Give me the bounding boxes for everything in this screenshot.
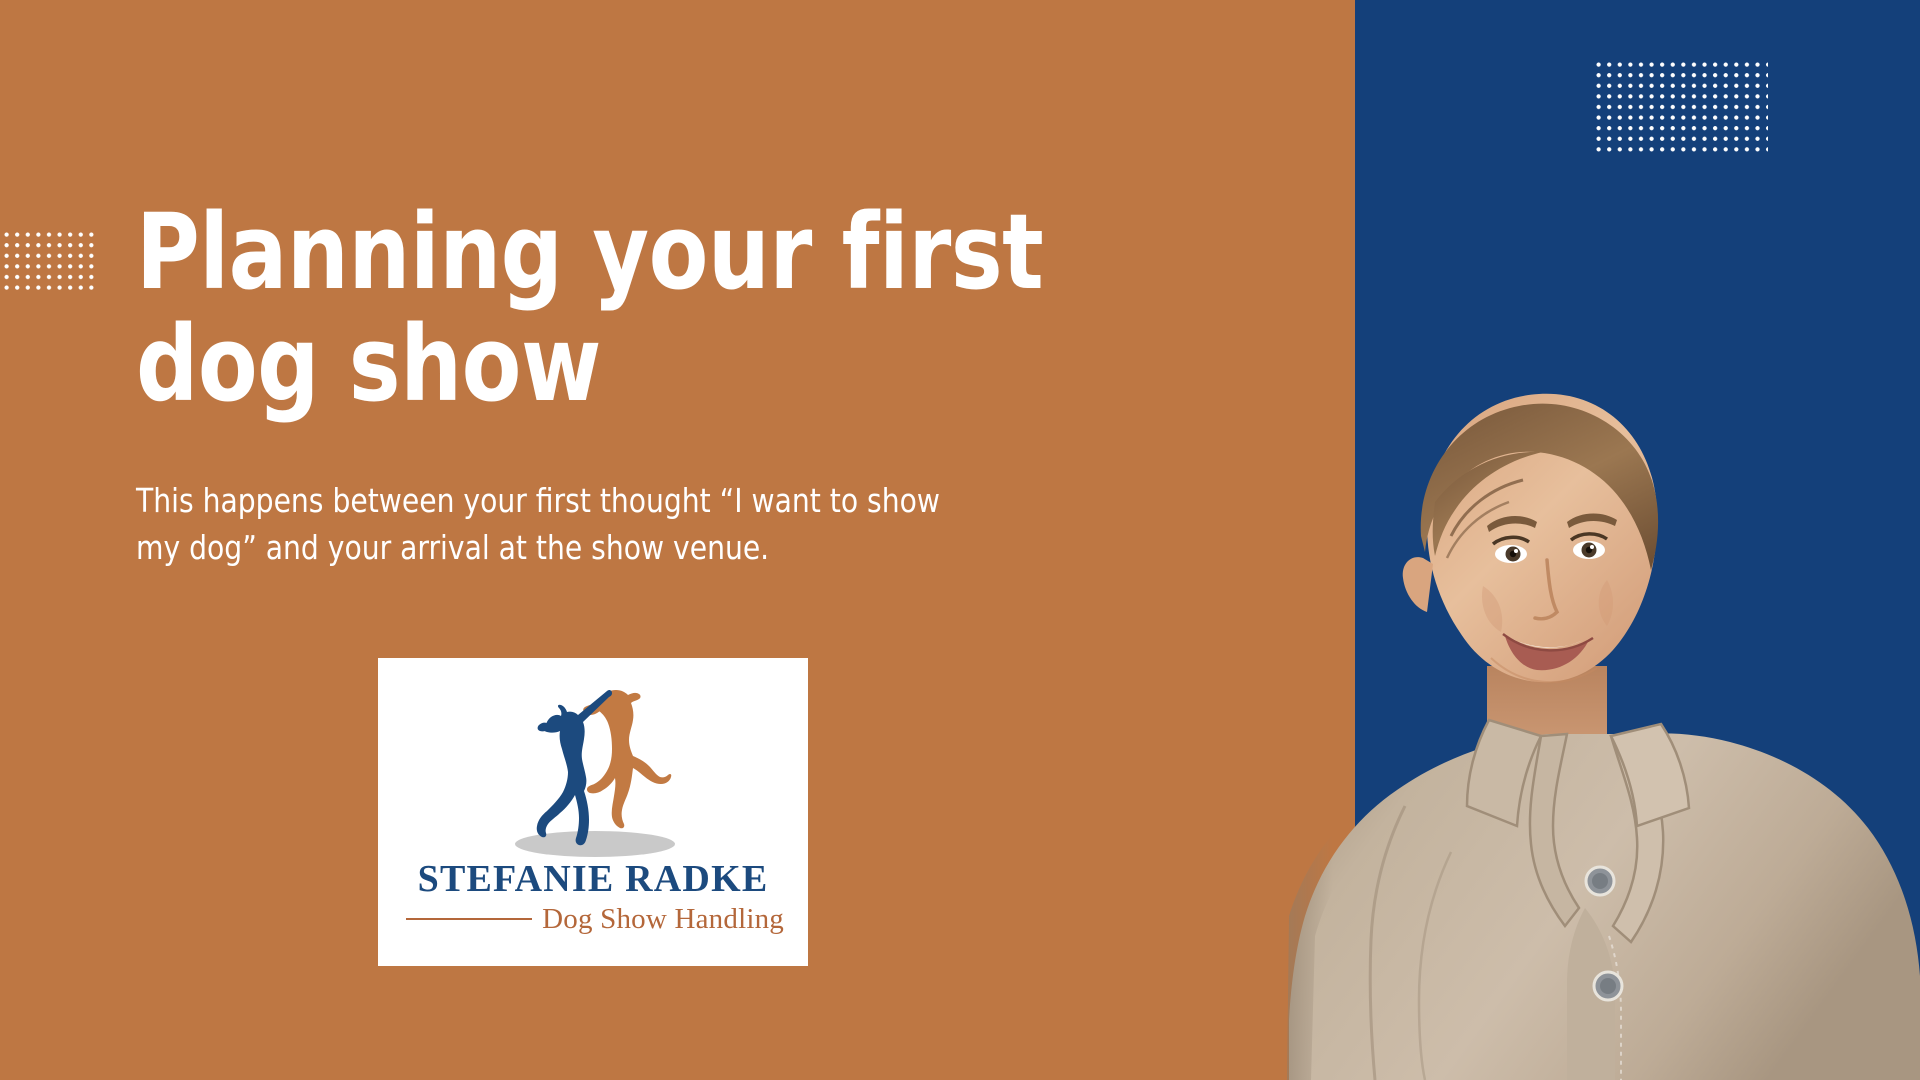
logo-wordmark: STEFANIE RADKE Dog Show Handling: [402, 860, 784, 936]
page-title: Planning your first dog show: [136, 196, 1066, 421]
page-subtitle: This happens between your first thought …: [136, 478, 1048, 572]
presenter-portrait: [1255, 336, 1920, 1080]
logo-tagline: Dog Show Handling: [542, 903, 784, 936]
logo-tagline-row: Dog Show Handling: [402, 903, 784, 936]
jacket-button: [1594, 972, 1622, 1000]
logo-divider-rule: [406, 918, 532, 920]
jacket-button: [1586, 867, 1614, 895]
logo-card: STEFANIE RADKE Dog Show Handling: [378, 658, 808, 966]
dot-grid-left-icon: [4, 232, 94, 294]
person-and-dog-silhouette-icon: [499, 674, 687, 864]
slide-canvas: Planning your first dog show This happen…: [0, 0, 1920, 1080]
dot-grid-right-icon: [1596, 62, 1768, 154]
logo-name: STEFANIE RADKE: [402, 860, 784, 900]
